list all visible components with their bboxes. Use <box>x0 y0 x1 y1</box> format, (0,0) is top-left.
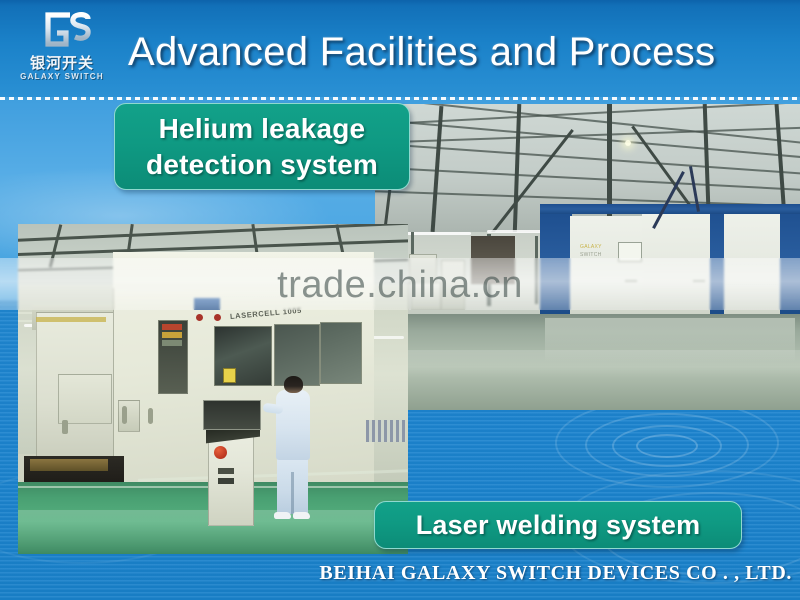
helium-leakage-photo: GALAXY SWITCH <box>375 104 800 410</box>
operator-shoe <box>274 512 291 519</box>
gs-monogram-icon <box>26 10 98 54</box>
watermark-text: trade.china.cn <box>0 263 800 307</box>
console-monitor <box>203 400 261 430</box>
laser-welding-label: Laser welding system <box>374 501 742 549</box>
slide-canvas: GALAXY SWITCH LASERCEL <box>0 0 800 600</box>
helium-label-line2: detection system <box>146 147 378 183</box>
operator-head <box>284 376 303 393</box>
helium-leakage-label: Helium leakage detection system <box>114 103 410 190</box>
page-title: Advanced Facilities and Process <box>128 26 788 82</box>
logo-chinese-name: 银河开关 <box>14 55 110 71</box>
company-logo: 银河开关 GALAXY SWITCH <box>14 10 110 90</box>
helium-label-line1: Helium leakage <box>146 111 378 147</box>
operator-torso <box>276 390 310 460</box>
cart-contents <box>30 459 108 471</box>
logo-english-name: GALAXY SWITCH <box>14 71 110 82</box>
footer-company-name: BEIHAI GALAXY SWITCH DEVICES CO . , LTD. <box>0 559 792 587</box>
operator-shoe <box>293 512 310 519</box>
header-divider <box>0 97 800 100</box>
emergency-stop-icon <box>214 446 227 459</box>
operator-leg-gap <box>291 472 294 514</box>
